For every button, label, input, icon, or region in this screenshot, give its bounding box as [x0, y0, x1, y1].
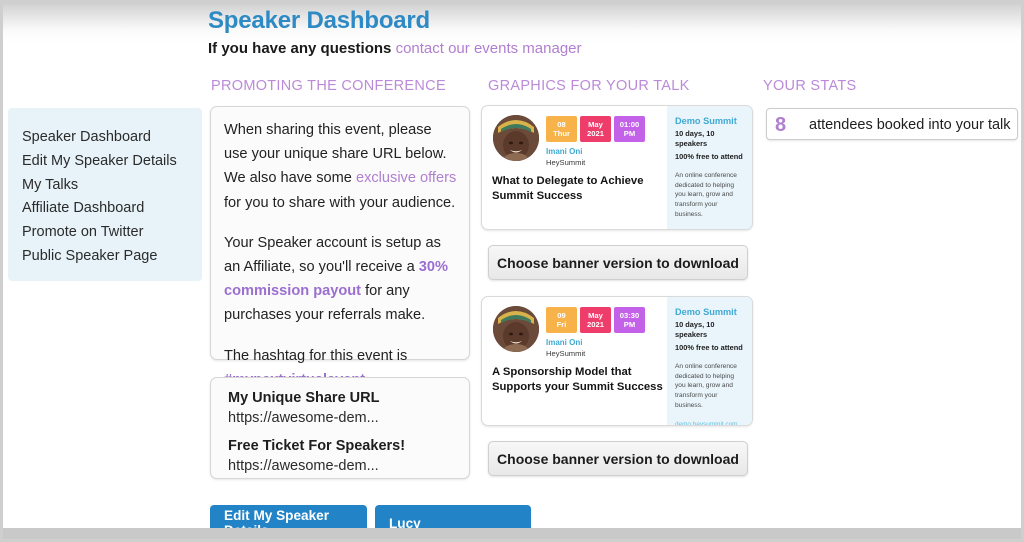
banner-1-talk-title: What to Delegate to Achieve Summit Succe… — [492, 174, 663, 204]
banner-1-time-hm: 01:00 — [620, 120, 639, 130]
sidebar-item-my-talks[interactable]: My Talks — [22, 174, 177, 198]
free-ticket-url-block: Free Ticket For Speakers! https://awesom… — [228, 436, 405, 477]
promoting-info-card: When sharing this event, please use your… — [210, 106, 470, 360]
page-subtitle: If you have any questions contact our ev… — [208, 38, 808, 60]
screenshot-frame: Speaker Dashboard If you have any questi… — [0, 0, 1024, 542]
promo-paragraph-1: When sharing this event, please use your… — [224, 118, 459, 215]
banner-1-time-chip: 01:00 PM — [614, 116, 645, 142]
banner-2-month: May — [588, 311, 603, 321]
bottom-strip — [3, 528, 1021, 539]
attendees-label: attendees booked into your talk — [809, 116, 1011, 134]
promoting-info-text: When sharing this event, please use your… — [224, 118, 459, 392]
share-urls-card: My Unique Share URL https://awesome-dem.… — [210, 377, 470, 479]
banner-2-month-chip: May 2021 — [580, 307, 611, 333]
speaker-avatar-icon — [493, 115, 539, 161]
page-surface: Speaker Dashboard If you have any questi… — [3, 4, 1021, 528]
section-heading-graphics: GRAPHICS FOR YOUR TALK — [488, 78, 690, 94]
banner-2-left: 09 Fri May 2021 03:30 PM Imani Oni HeySu… — [482, 297, 669, 425]
banner-2-speaker-org: HeySummit — [546, 348, 585, 359]
section-heading-promoting: PROMOTING THE CONFERENCE — [211, 78, 446, 94]
banner-2-summit-body: An online conference dedicated to helpin… — [675, 362, 745, 410]
banner-1-day-chip: 08 Thur — [546, 116, 577, 142]
banner-2-summit-sub-1: 10 days, 10 speakers — [675, 320, 745, 341]
subtitle-text: If you have any questions — [208, 40, 391, 57]
banner-1-day-name: Thur — [553, 129, 570, 139]
contact-events-manager-link[interactable]: contact our events manager — [396, 40, 582, 57]
promo-paragraph-2: Your Speaker account is setup as an Affi… — [224, 231, 459, 328]
banner-1-summit-body: An online conference dedicated to helpin… — [675, 171, 745, 219]
choose-banner-version-button-2[interactable]: Choose banner version to download — [488, 441, 748, 476]
sidebar-item-edit-my-speaker-details[interactable]: Edit My Speaker Details — [22, 150, 177, 174]
banner-1-summit-title: Demo Summit — [675, 115, 745, 127]
banner-1-summit-url: demo.heysummit.com — [675, 229, 745, 230]
banner-2-talk-title: A Sponsorship Model that Supports your S… — [492, 365, 663, 395]
section-heading-stats: YOUR STATS — [763, 78, 857, 94]
sidebar: Speaker Dashboard Edit My Speaker Detail… — [8, 108, 202, 281]
unique-share-url-label: My Unique Share URL — [228, 388, 379, 408]
sidebar-item-affiliate-dashboard[interactable]: Affiliate Dashboard — [22, 197, 177, 221]
banner-1-date-chips: 08 Thur May 2021 01:00 PM — [546, 116, 645, 142]
free-ticket-url-label: Free Ticket For Speakers! — [228, 436, 405, 456]
banner-1-summit-sub-1: 10 days, 10 speakers — [675, 129, 745, 150]
banner-2-day-chip: 09 Fri — [546, 307, 577, 333]
banner-2-time-chip: 03:30 PM — [614, 307, 645, 333]
banner-1-time-ampm: PM — [624, 129, 635, 139]
banner-1-speaker-org: HeySummit — [546, 157, 585, 168]
promo-p2-a: Your Speaker account is setup as an Affi… — [224, 235, 441, 275]
edit-my-speaker-details-button[interactable]: Edit My Speaker Details — [210, 505, 367, 528]
banner-1-right: Demo Summit 10 days, 10 speakers 100% fr… — [667, 106, 752, 229]
banner-1-month: May — [588, 120, 603, 130]
speaker-avatar-icon — [493, 306, 539, 352]
sidebar-nav-list: Speaker Dashboard Edit My Speaker Detail… — [22, 126, 177, 269]
sidebar-item-public-speaker-page[interactable]: Public Speaker Page — [22, 245, 177, 269]
banner-1-summit-sub-2: 100% free to attend — [675, 152, 745, 162]
sidebar-item-promote-on-twitter[interactable]: Promote on Twitter — [22, 221, 177, 245]
attendees-count: 8 — [775, 113, 786, 137]
unique-share-url-value[interactable]: https://awesome-dem... — [228, 408, 379, 429]
choose-banner-version-button-1[interactable]: Choose banner version to download — [488, 245, 748, 280]
sidebar-item-speaker-dashboard[interactable]: Speaker Dashboard — [22, 126, 177, 150]
page-header: Speaker Dashboard If you have any questi… — [208, 6, 808, 60]
banner-1-day-number: 08 — [557, 120, 565, 130]
user-menu-button[interactable]: Lucy — [375, 505, 531, 528]
exclusive-offers-link[interactable]: exclusive offers — [356, 170, 456, 186]
talk-banner-preview-2[interactable]: 09 Fri May 2021 03:30 PM Imani Oni HeySu… — [481, 296, 753, 426]
banner-2-summit-title: Demo Summit — [675, 306, 745, 318]
talk-banner-preview-1[interactable]: 08 Thur May 2021 01:00 PM Imani Oni HeyS… — [481, 105, 753, 230]
banner-2-summit-url: demo.heysummit.com — [675, 420, 745, 426]
promo-p3-a: The hashtag for this event is — [224, 348, 407, 364]
page-title: Speaker Dashboard — [208, 6, 808, 36]
banner-2-right: Demo Summit 10 days, 10 speakers 100% fr… — [667, 297, 752, 425]
banner-2-speaker-name: Imani Oni — [546, 337, 582, 348]
banner-2-day-name: Fri — [557, 320, 567, 330]
banner-1-speaker-name: Imani Oni — [546, 146, 582, 157]
banner-2-summit-sub-2: 100% free to attend — [675, 343, 745, 353]
banner-2-time-hm: 03:30 — [620, 311, 639, 321]
banner-1-month-chip: May 2021 — [580, 116, 611, 142]
banner-1-left: 08 Thur May 2021 01:00 PM Imani Oni HeyS… — [482, 106, 669, 229]
attendees-stat-card: 8 attendees booked into your talk — [766, 108, 1018, 140]
banner-1-year: 2021 — [587, 129, 604, 139]
unique-share-url-block: My Unique Share URL https://awesome-dem.… — [228, 388, 379, 429]
banner-2-year: 2021 — [587, 320, 604, 330]
promo-p1-b: for you to share with your audience. — [224, 195, 455, 211]
banner-2-day-number: 09 — [557, 311, 565, 321]
banner-2-time-ampm: PM — [624, 320, 635, 330]
banner-2-date-chips: 09 Fri May 2021 03:30 PM — [546, 307, 645, 333]
free-ticket-url-value[interactable]: https://awesome-dem... — [228, 456, 405, 477]
